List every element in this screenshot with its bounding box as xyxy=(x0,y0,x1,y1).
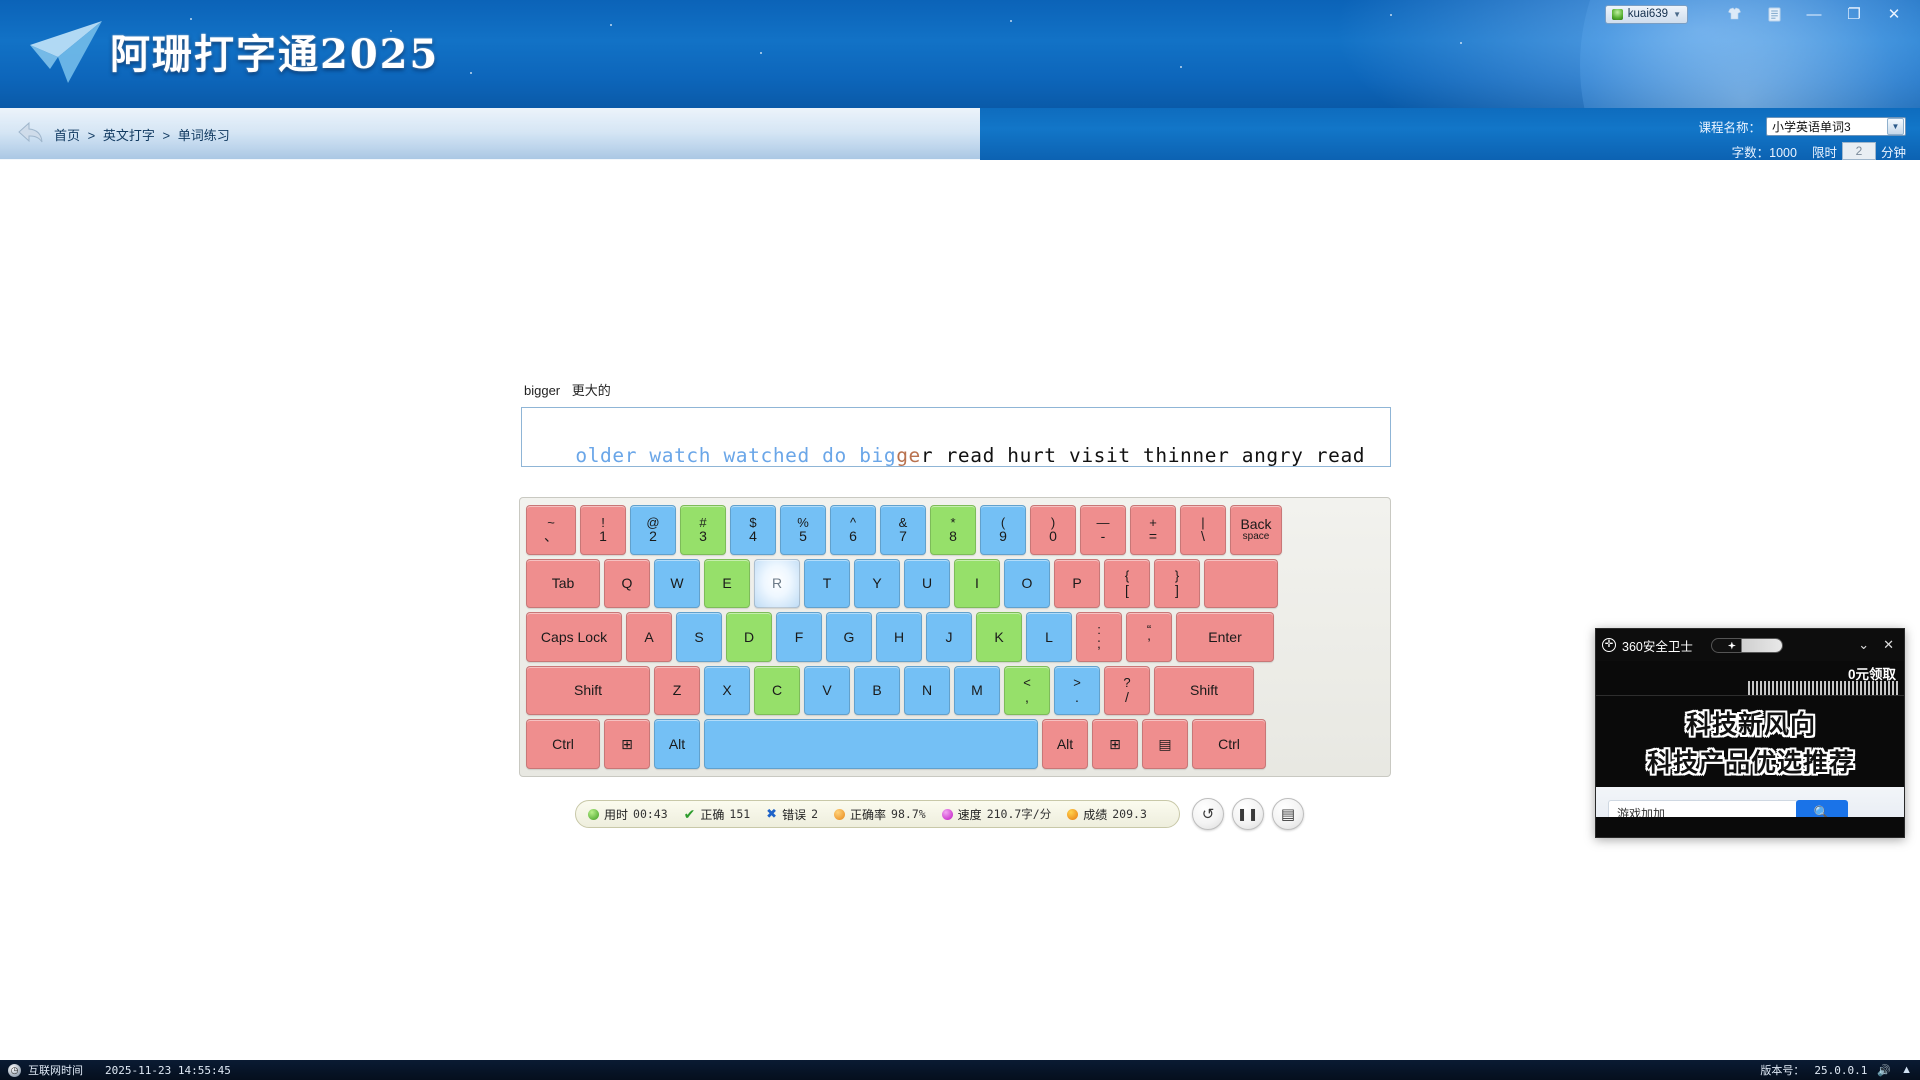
decorative-star xyxy=(190,18,192,20)
key-l[interactable]: L xyxy=(1026,612,1072,662)
chevron-up-icon[interactable]: ▲ xyxy=(1901,1064,1912,1076)
score-star-icon xyxy=(1067,809,1078,820)
stat-score-star: 成绩209.3 xyxy=(1067,806,1147,823)
key-0[interactable]: )0 xyxy=(1030,505,1076,555)
user-name: kuai639 xyxy=(1628,8,1668,20)
decorative-star xyxy=(610,24,612,26)
key-n[interactable]: N xyxy=(904,666,950,716)
key-label: A xyxy=(644,630,653,645)
clock-dot-icon xyxy=(588,809,599,820)
key--[interactable]: —- xyxy=(1080,505,1126,555)
key-lower-label: 2 xyxy=(649,529,657,544)
word-count-label: 字数：1000 xyxy=(1732,142,1797,161)
key-lower-label: . xyxy=(1075,690,1079,705)
key-label: F xyxy=(795,630,804,645)
key-sub-label: space xyxy=(1243,532,1270,543)
key-upper-label: @ xyxy=(646,516,659,530)
course-panel: 课程名称： 小学英语单词3 ▼ 字数：1000 限时 2 分钟 xyxy=(1698,116,1906,160)
ad-barcode-decoration xyxy=(1748,681,1898,695)
key-label: T xyxy=(823,576,832,591)
key-t[interactable]: T xyxy=(804,559,850,609)
key-3[interactable]: #3 xyxy=(680,505,726,555)
check-icon: ✔ xyxy=(684,806,696,823)
key-[interactable]: {[ xyxy=(1104,559,1150,609)
key-shift[interactable]: Shift xyxy=(526,666,650,716)
key-6[interactable]: ^6 xyxy=(830,505,876,555)
key-a[interactable]: A xyxy=(626,612,672,662)
keyboard-row: Ctrl⊞AltAlt⊞▤Ctrl xyxy=(526,719,1384,769)
key-label: Enter xyxy=(1208,630,1241,645)
key-label: S xyxy=(694,630,703,645)
stats-bar: 用时00:43✔正确151✖错误2正确率98.7%速度210.7字/分成绩209… xyxy=(575,800,1180,828)
key-label: Caps Lock xyxy=(541,630,607,645)
key-upper-label: ! xyxy=(601,516,605,530)
hint-word: bigger xyxy=(524,383,560,398)
key-label: Ctrl xyxy=(1218,737,1240,752)
stat-label: 速度 xyxy=(958,806,982,823)
version-value: 25.0.0.1 xyxy=(1814,1064,1867,1077)
key-label: Back xyxy=(1240,517,1271,532)
key-d[interactable]: D xyxy=(726,612,772,662)
key-upper-label: < xyxy=(1023,676,1031,690)
ad-headline-1: 科技新风向 xyxy=(1686,705,1816,741)
key-5[interactable]: %5 xyxy=(780,505,826,555)
key-upper-label: # xyxy=(699,516,706,530)
key-label: W xyxy=(670,576,683,591)
minimize-button[interactable]: — xyxy=(1794,0,1834,28)
stat-label: 正确 xyxy=(700,806,724,823)
key-upper-label: * xyxy=(950,516,955,530)
time-limit-input[interactable]: 2 xyxy=(1842,142,1876,160)
breadcrumb-separator: > xyxy=(88,128,96,143)
decorative-star xyxy=(760,52,762,54)
key-label: Shift xyxy=(1190,683,1218,698)
ad-divider xyxy=(1596,695,1905,696)
ad-toggle-decoration xyxy=(1711,638,1783,653)
key-label: Y xyxy=(872,576,881,591)
key-tab[interactable]: Tab xyxy=(526,559,600,609)
internet-time-value: 2025-11-23 14:55:45 xyxy=(105,1064,231,1077)
key-label: Alt xyxy=(669,737,685,752)
key-lower-label: 5 xyxy=(799,529,807,544)
app-title: 阿珊打字通2025 xyxy=(110,22,439,80)
key-label: ▤ xyxy=(1158,737,1171,752)
cross-icon: ✖ xyxy=(766,806,777,822)
key-upper-label: : xyxy=(1097,623,1101,637)
key-upper-label: ~ xyxy=(547,516,555,530)
key-lower-label: 4 xyxy=(749,529,757,544)
stat-label: 成绩 xyxy=(1083,806,1107,823)
key-lower-label: ] xyxy=(1175,583,1179,598)
status-bar: ◷ 互联网时间 2025-11-23 14:55:45 版本号： 25.0.0.… xyxy=(0,1060,1920,1080)
typing-text-panel[interactable]: older watch watched do bigger read hurt … xyxy=(521,407,1391,467)
key-lower-label: / xyxy=(1125,690,1129,705)
stat-label: 用时 xyxy=(604,806,628,823)
key-lower-label: ; xyxy=(1097,636,1101,651)
stat-value: 210.7字/分 xyxy=(987,806,1052,822)
target-token-pending: r read hurt visit thinner angry read xyxy=(921,444,1365,467)
clock-icon: ◷ xyxy=(8,1064,21,1077)
key-[interactable]: <, xyxy=(1004,666,1050,716)
key-upper-label: > xyxy=(1073,676,1081,690)
stat-value: 98.7% xyxy=(891,807,926,821)
key-9[interactable]: (9 xyxy=(980,505,1026,555)
pause-button[interactable]: ❚❚ xyxy=(1232,798,1264,830)
key-label: L xyxy=(1045,630,1053,645)
ad-popup[interactable]: ✛ 360安全卫士 ⌄ ✕ 0元领取 科技新风向 科技产品优选推荐 游戏加加 🔍 xyxy=(1595,628,1905,838)
key-8[interactable]: *8 xyxy=(930,505,976,555)
key-p[interactable]: P xyxy=(1054,559,1100,609)
key-label: Ctrl xyxy=(552,737,574,752)
key-label: V xyxy=(822,683,831,698)
chevron-down-icon[interactable]: ⌄ xyxy=(1854,637,1873,653)
key-label: O xyxy=(1022,576,1033,591)
key-label: N xyxy=(922,683,932,698)
key-upper-label: { xyxy=(1125,569,1129,583)
stat-cross: ✖错误2 xyxy=(766,806,818,823)
key-label: J xyxy=(946,630,953,645)
key-upper-label: | xyxy=(1201,516,1204,530)
key-upper-label: } xyxy=(1175,569,1179,583)
key-upper-label: $ xyxy=(749,516,756,530)
virtual-keyboard[interactable]: ~、!1@2#3$4%5^6&7*8(9)0—-+=|\BackspaceTab… xyxy=(519,497,1391,777)
key-lower-label: 0 xyxy=(1049,529,1057,544)
key-b[interactable]: B xyxy=(854,666,900,716)
close-button[interactable]: ✕ xyxy=(1874,0,1914,28)
user-avatar-icon xyxy=(1612,9,1623,20)
key-label: D xyxy=(744,630,754,645)
key-label: R xyxy=(772,576,782,591)
key-[interactable]: ~、 xyxy=(526,505,576,555)
key-z[interactable]: Z xyxy=(654,666,700,716)
ad-body[interactable]: 科技新风向 科技产品优选推荐 xyxy=(1596,697,1905,787)
key-back[interactable]: Backspace xyxy=(1230,505,1282,555)
stat-label: 正确率 xyxy=(850,806,886,823)
key-alt[interactable]: Alt xyxy=(654,719,700,769)
restart-button[interactable]: ↺ xyxy=(1192,798,1224,830)
key-e[interactable]: E xyxy=(704,559,750,609)
window-controls: kuai639 ▼ — ❐ ✕ xyxy=(1605,0,1914,28)
key-[interactable]: ⊞ xyxy=(604,719,650,769)
back-arrow-icon[interactable] xyxy=(16,119,46,147)
key-label: ⊞ xyxy=(1109,737,1121,752)
key-2[interactable]: @2 xyxy=(630,505,676,555)
key-upper-label: — xyxy=(1097,516,1110,530)
breadcrumb-separator: > xyxy=(163,128,171,143)
key-[interactable]: >. xyxy=(1054,666,1100,716)
key-label: B xyxy=(872,683,881,698)
key-lower-label: 7 xyxy=(899,529,907,544)
key-upper-label: & xyxy=(899,516,908,530)
course-label: 课程名称： xyxy=(1698,117,1761,136)
key-shift[interactable]: Shift xyxy=(1154,666,1254,716)
key-blank[interactable] xyxy=(1204,559,1278,609)
skin-icon[interactable] xyxy=(1714,0,1754,28)
key-lower-label: 6 xyxy=(849,529,857,544)
key-blank[interactable] xyxy=(704,719,1038,769)
stat-accuracy-dot: 正确率98.7% xyxy=(834,806,926,823)
ad-badge: 0元领取 xyxy=(1848,663,1896,683)
ad-header: ✛ 360安全卫士 ⌄ ✕ xyxy=(1596,629,1904,661)
key-label: ⊞ xyxy=(621,737,633,752)
key-lower-label: 9 xyxy=(999,529,1007,544)
key-k[interactable]: K xyxy=(976,612,1022,662)
key-h[interactable]: H xyxy=(876,612,922,662)
user-badge[interactable]: kuai639 ▼ xyxy=(1605,5,1688,24)
key-1[interactable]: !1 xyxy=(580,505,626,555)
target-text-line: older watch watched do bigger read hurt … xyxy=(526,414,1386,498)
key-label: H xyxy=(894,630,904,645)
keyboard-row: Caps LockASDFGHJKL:;“’Enter xyxy=(526,612,1384,662)
stat-label: 错误 xyxy=(782,806,806,823)
stat-check: ✔正确151 xyxy=(684,806,751,823)
course-select[interactable]: 小学英语单词3 ▼ xyxy=(1766,117,1906,136)
maximize-button[interactable]: ❐ xyxy=(1834,0,1874,28)
key-enter[interactable]: Enter xyxy=(1176,612,1274,662)
sub-toolbar: 首页 > 英文打字 > 单词练习 课程名称： 小学英语单词3 ▼ 字数：1000… xyxy=(0,108,1920,160)
key-c[interactable]: C xyxy=(754,666,800,716)
decorative-star xyxy=(1180,66,1182,68)
key-[interactable]: |\ xyxy=(1180,505,1226,555)
key-lower-label: 8 xyxy=(949,529,957,544)
key-ctrl[interactable]: Ctrl xyxy=(526,719,600,769)
stat-value: 151 xyxy=(729,807,750,821)
key-upper-label: ? xyxy=(1123,676,1130,690)
key-v[interactable]: V xyxy=(804,666,850,716)
key-ctrl[interactable]: Ctrl xyxy=(1192,719,1266,769)
key-lower-label: ’ xyxy=(1147,636,1150,651)
key-lower-label: - xyxy=(1101,529,1106,544)
key-lower-label: \ xyxy=(1201,529,1205,544)
accuracy-dot-icon xyxy=(834,809,845,820)
key-upper-label: % xyxy=(797,516,809,530)
key-upper-label: ^ xyxy=(850,516,856,530)
breadcrumb-item-home[interactable]: 首页 xyxy=(54,128,80,143)
key-lower-label: 、 xyxy=(544,529,558,544)
key-label: M xyxy=(971,683,983,698)
report-button[interactable]: ▤ xyxy=(1272,798,1304,830)
key-label: P xyxy=(1072,576,1081,591)
practice-controls: ↺ ❚❚ ▤ xyxy=(1192,798,1304,830)
key-o[interactable]: O xyxy=(1004,559,1050,609)
course-select-value: 小学英语单词3 xyxy=(1772,118,1851,135)
stat-speed-dot: 速度210.7字/分 xyxy=(942,806,1052,823)
keyboard-row: TabQWERTYUIOP{[}] xyxy=(526,559,1384,609)
key-q[interactable]: Q xyxy=(604,559,650,609)
key-lower-label: 1 xyxy=(599,529,607,544)
decorative-star xyxy=(1010,20,1012,22)
key-label: Shift xyxy=(574,683,602,698)
key-label: Alt xyxy=(1057,737,1073,752)
key-label: C xyxy=(772,683,782,698)
key-label: Q xyxy=(622,576,633,591)
time-unit-label: 分钟 xyxy=(1881,142,1906,161)
decorative-star xyxy=(470,72,472,74)
key-label: G xyxy=(844,630,855,645)
stat-value: 00:43 xyxy=(633,807,668,821)
breadcrumb: 首页 > 英文打字 > 单词练习 xyxy=(52,125,232,144)
key-4[interactable]: $4 xyxy=(730,505,776,555)
key-label: Z xyxy=(673,683,682,698)
keyboard-row: ShiftZXCVBNM<,>.?/Shift xyxy=(526,666,1384,716)
stat-value: 209.3 xyxy=(1112,807,1147,821)
stat-clock-dot: 用时00:43 xyxy=(588,806,668,823)
word-hint: bigger 更大的 xyxy=(524,380,611,399)
app-logo-icon xyxy=(28,17,106,89)
key-lower-label: , xyxy=(1025,690,1029,705)
key-u[interactable]: U xyxy=(904,559,950,609)
key-s[interactable]: S xyxy=(676,612,722,662)
key-[interactable]: += xyxy=(1130,505,1176,555)
version-label: 版本号： xyxy=(1760,1062,1804,1078)
key-i[interactable]: I xyxy=(954,559,1000,609)
key-label: I xyxy=(975,576,979,591)
key-y[interactable]: Y xyxy=(854,559,900,609)
key-w[interactable]: W xyxy=(654,559,700,609)
key-label: K xyxy=(994,630,1003,645)
target-token-error: ge xyxy=(896,444,921,467)
key-g[interactable]: G xyxy=(826,612,872,662)
key-alt[interactable]: Alt xyxy=(1042,719,1088,769)
ad-bottom-strip xyxy=(1596,817,1905,838)
key-j[interactable]: J xyxy=(926,612,972,662)
key-upper-label: ) xyxy=(1051,516,1055,530)
key-7[interactable]: &7 xyxy=(880,505,926,555)
key-m[interactable]: M xyxy=(954,666,1000,716)
key-r[interactable]: R xyxy=(754,559,800,609)
ad-brand-name: 360安全卫士 xyxy=(1622,636,1693,655)
ad-brand-icon: ✛ xyxy=(1602,638,1616,652)
key-label: E xyxy=(722,576,731,591)
speed-dot-icon xyxy=(942,809,953,820)
key-caps-lock[interactable]: Caps Lock xyxy=(526,612,622,662)
target-token-correct: older watch watched do big xyxy=(575,444,896,467)
key-lower-label: = xyxy=(1149,529,1157,544)
close-icon[interactable]: ✕ xyxy=(1879,637,1898,653)
key-label: X xyxy=(722,683,731,698)
note-icon[interactable] xyxy=(1754,0,1794,28)
key-[interactable]: }] xyxy=(1154,559,1200,609)
key-lower-label: 3 xyxy=(699,529,707,544)
key-x[interactable]: X xyxy=(704,666,750,716)
keyboard-row: ~、!1@2#3$4%5^6&7*8(9)0—-+=|\Backspace xyxy=(526,505,1384,555)
stat-value: 2 xyxy=(811,807,818,821)
status-bar-right: 版本号： 25.0.0.1 🔊 ▲ xyxy=(1760,1062,1920,1078)
internet-time-label: 互联网时间 xyxy=(28,1062,83,1078)
key-[interactable]: ▤ xyxy=(1142,719,1188,769)
chevron-down-icon[interactable]: ▼ xyxy=(1887,118,1904,135)
title-bar: 阿珊打字通2025 kuai639 ▼ — ❐ ✕ xyxy=(0,0,1920,108)
key-[interactable]: “’ xyxy=(1126,612,1172,662)
key-upper-label: “ xyxy=(1147,623,1151,637)
key-lower-label: [ xyxy=(1125,583,1129,598)
volume-icon[interactable]: 🔊 xyxy=(1877,1064,1891,1077)
decorative-star xyxy=(1390,14,1392,16)
hint-meaning: 更大的 xyxy=(572,383,611,398)
chevron-down-icon: ▼ xyxy=(1673,10,1681,19)
time-limit-label: 限时 xyxy=(1812,142,1837,161)
key-upper-label: + xyxy=(1149,516,1157,530)
key-upper-label: ( xyxy=(1001,516,1005,530)
breadcrumb-item-english-typing[interactable]: 英文打字 xyxy=(103,128,155,143)
key-[interactable]: ⊞ xyxy=(1092,719,1138,769)
decorative-star xyxy=(1460,42,1462,44)
key-label: U xyxy=(922,576,932,591)
breadcrumb-item-word-practice[interactable]: 单词练习 xyxy=(178,128,230,143)
key-f[interactable]: F xyxy=(776,612,822,662)
ad-headline-2: 科技产品优选推荐 xyxy=(1647,743,1855,779)
key-label: Tab xyxy=(552,576,575,591)
key-[interactable]: :; xyxy=(1076,612,1122,662)
key-[interactable]: ?/ xyxy=(1104,666,1150,716)
